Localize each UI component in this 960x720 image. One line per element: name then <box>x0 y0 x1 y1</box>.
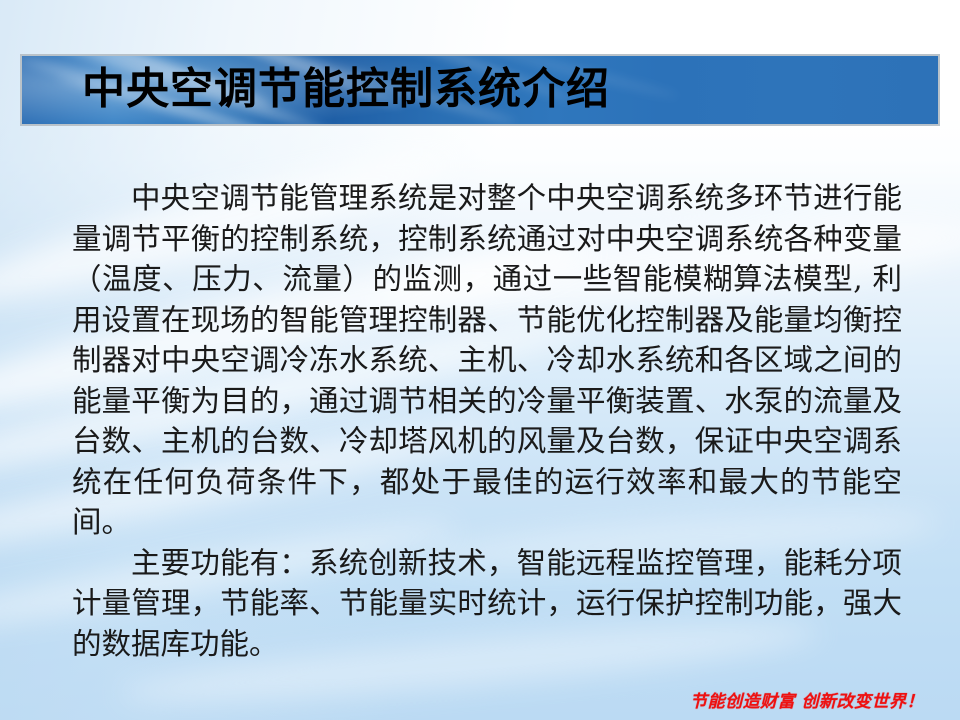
slogan-footer: 节能创造财富 创新改变世界！ <box>0 687 924 712</box>
slide-title: 中央空调节能控制系统介绍 <box>82 69 610 112</box>
title-banner: 中央空调节能控制系统介绍 <box>20 54 940 126</box>
slide-body: 中央空调节能管理系统是对整个中央空调系统多环节进行能量调节平衡的控制系统，控制系… <box>72 178 902 664</box>
presentation-slide: 中央空调节能控制系统介绍 中央空调节能管理系统是对整个中央空调系统多环节进行能量… <box>0 0 960 720</box>
body-paragraph-1: 中央空调节能管理系统是对整个中央空调系统多环节进行能量调节平衡的控制系统，控制系… <box>72 178 902 543</box>
body-paragraph-2: 主要功能有：系统创新技术，智能远程监控管理，能耗分项计量管理，节能率、节能量实时… <box>72 543 902 665</box>
